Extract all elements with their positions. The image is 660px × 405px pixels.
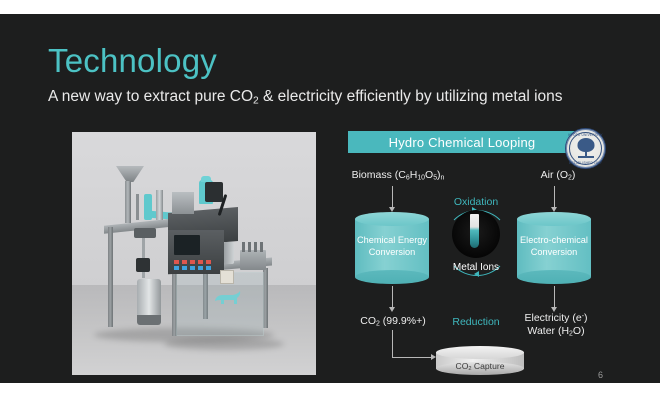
cylinder-bottom <box>517 270 591 284</box>
photo-feed-tube <box>125 181 131 223</box>
slide-root: Technology A new way to extract pure CO2… <box>0 0 660 405</box>
seal-base <box>578 156 594 158</box>
photo-panel-button <box>174 260 179 264</box>
photo-rod <box>136 194 139 220</box>
photo-panel-button <box>182 260 187 264</box>
process-label: Chemical EnergyConversion <box>355 234 429 259</box>
photo-panel-button <box>206 266 211 270</box>
photo-panel-button <box>182 266 187 270</box>
university-seal-icon: KYOTO UNIVERSITY ESTABLISHED 1897 <box>565 128 606 169</box>
diagram-banner-title: Hydro Chemical Looping <box>389 135 536 150</box>
photo-test-tube <box>260 242 263 252</box>
photo-tube-rack <box>240 250 266 270</box>
photo-leg <box>108 227 113 327</box>
capture-top <box>436 346 524 359</box>
diagram-banner: Hydro Chemical Looping <box>348 131 576 153</box>
page-number: 6 <box>598 370 603 380</box>
photo-panel-screen <box>174 235 200 255</box>
photo-panel-button <box>190 260 195 264</box>
cylinder-top <box>355 212 429 226</box>
photo-vessel-base <box>137 315 161 325</box>
arrow-air-shaft <box>554 186 555 208</box>
photo-motor <box>136 258 150 272</box>
photo-reactor-vessel <box>137 279 161 317</box>
page-title: Technology <box>48 44 217 77</box>
photo-panel-button <box>190 266 195 270</box>
arrow-capture-vertical <box>392 330 393 358</box>
slide-canvas: Technology A new way to extract pure CO2… <box>0 14 660 383</box>
page-subtitle: A new way to extract pure CO2 & electric… <box>48 88 563 106</box>
test-tube-icon <box>470 214 479 248</box>
arrow-capture-horizontal <box>392 357 432 358</box>
process-label: Electro-chemicalConversion <box>517 234 591 259</box>
photo-panel-button <box>174 266 179 270</box>
output-electricity-label: Electricity (e-)Water (H2O) <box>500 312 612 340</box>
capture-label: CO2 Capture <box>436 361 524 372</box>
output-co2-label: CO2 (99.9%+) <box>337 315 449 329</box>
photo-valve-block <box>224 242 234 264</box>
input-air-label: Air (O2) <box>498 169 618 183</box>
process-chemical-energy-conversion: Chemical EnergyConversion <box>355 212 429 284</box>
photo-shadow-2 <box>164 338 284 350</box>
cylinder-top <box>517 212 591 226</box>
photo-panel-button <box>198 260 203 264</box>
photo-white-box <box>172 192 194 214</box>
seal-top-text: KYOTO UNIVERSITY <box>566 133 605 137</box>
seal-bottom-text: ESTABLISHED 1897 <box>566 161 605 165</box>
input-biomass-label: Biomass (C6H10O5)n <box>338 169 458 183</box>
photo-dark-unit <box>205 182 223 202</box>
photo-panel-button <box>206 260 211 264</box>
photo-equipment-logo <box>206 290 250 309</box>
photo-panel-button <box>198 266 203 270</box>
photo-test-tube <box>254 242 257 252</box>
arrow-co2-shaft <box>392 286 393 308</box>
arrow-co2-head <box>389 307 395 312</box>
photo-test-tube <box>248 242 251 252</box>
photo-test-tube <box>242 242 245 252</box>
metal-ions-label: Metal Ions <box>444 262 508 273</box>
photo-glass-column <box>156 190 163 220</box>
arrow-electricity-shaft <box>554 286 555 308</box>
process-electro-chemical-conversion: Electro-chemicalConversion <box>517 212 591 284</box>
cylinder-bottom <box>355 270 429 284</box>
co2-capture-storage: CO2 Capture <box>436 346 524 376</box>
equipment-photo <box>72 132 316 375</box>
photo-flange <box>134 228 156 238</box>
rhino-icon <box>213 290 243 306</box>
photo-small-bottle <box>220 270 234 284</box>
arrow-biomass-shaft <box>392 186 393 208</box>
